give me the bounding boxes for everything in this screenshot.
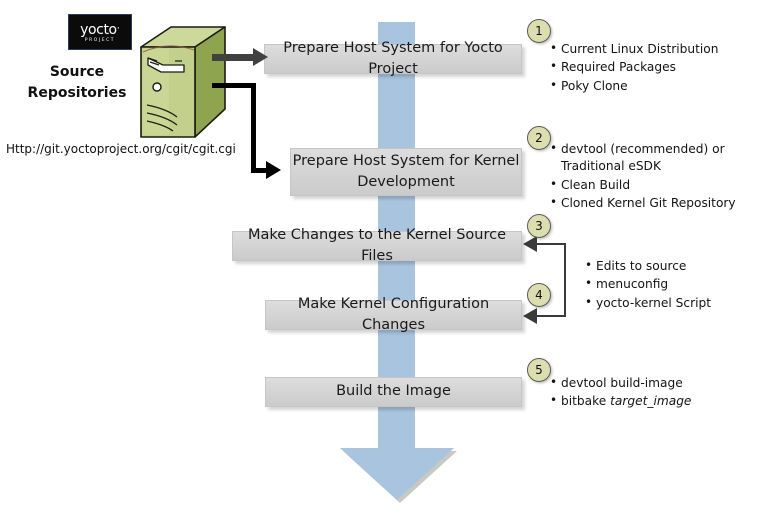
step-5-notes: devtool build-image bitbake target_image: [548, 375, 691, 412]
source-label-line2: Repositories: [14, 83, 140, 104]
step-1-note-2: Required Packages: [561, 59, 718, 76]
loop-note-3: yocto-kernel Script: [596, 295, 711, 312]
step-3-label: Make Changes to the Kernel Source Files: [233, 225, 521, 267]
step-3-box[interactable]: Make Changes to the Kernel Source Files: [232, 231, 522, 261]
step-5-note-2: bitbake target_image: [561, 393, 691, 410]
connector-server-to-step1: [212, 54, 256, 61]
step-2-box[interactable]: Prepare Host System for Kernel Developme…: [290, 148, 522, 196]
source-label-line1: Source: [14, 62, 140, 83]
step-2-number: 2: [535, 131, 543, 145]
step-1-note-3: Poky Clone: [561, 78, 718, 95]
step-2-note-2: Clean Build: [561, 177, 736, 194]
step-1-notes: Current Linux Distribution Required Pack…: [548, 41, 718, 96]
step-2-notes: devtool (recommended) or Traditional eSD…: [548, 141, 736, 213]
yocto-logo-subtitle: PROJECT: [85, 39, 115, 43]
step-5-box[interactable]: Build the Image: [265, 377, 522, 407]
source-repositories-url: Http://git.yoctoproject.org/cgit/cgit.cg…: [6, 142, 236, 156]
step-1-badge: 1: [527, 19, 551, 43]
step-5-note-2-command: bitbake: [561, 394, 610, 408]
feedback-loop-notes: Edits to source menuconfig yocto-kernel …: [583, 258, 711, 313]
step-2-badge: 2: [527, 126, 551, 150]
step-4-badge: 4: [527, 283, 551, 307]
step-3-number: 3: [535, 219, 543, 233]
flow-arrow-head: [340, 448, 454, 500]
connector-server-to-step2-arrowhead: [266, 161, 281, 179]
step-5-badge: 5: [527, 358, 551, 382]
yocto-project-logo: yocto· PROJECT: [68, 14, 132, 50]
step-2-note-1: devtool (recommended) or Traditional eSD…: [561, 141, 729, 176]
yocto-logo-dot: ·: [117, 23, 120, 34]
yocto-logo-word: yocto·: [80, 21, 120, 37]
step-5-number: 5: [535, 363, 543, 377]
feedback-loop-vertical: [564, 243, 566, 317]
step-2-note-3: Cloned Kernel Git Repository: [561, 195, 736, 212]
step-5-note-1: devtool build-image: [561, 375, 691, 392]
source-repositories-label: Source Repositories: [14, 62, 140, 104]
step-4-box[interactable]: Make Kernel Configuration Changes: [265, 300, 522, 330]
connector-server-to-step2-vertical: [251, 83, 256, 173]
feedback-loop-arrow-to-step3: [523, 236, 537, 252]
feedback-loop-arrow-to-step4: [523, 308, 537, 324]
loop-note-1: Edits to source: [596, 258, 711, 275]
step-5-label: Build the Image: [336, 381, 451, 402]
step-3-badge: 3: [527, 214, 551, 238]
connector-server-to-step2-horizontal-top: [212, 83, 256, 88]
diagram-canvas: yocto· PROJECT Source Repositories Http:…: [0, 0, 769, 517]
step-1-box[interactable]: Prepare Host System for Yocto Project: [264, 44, 522, 74]
step-1-label: Prepare Host System for Yocto Project: [265, 38, 521, 80]
loop-note-2: menuconfig: [596, 276, 711, 293]
step-2-label: Prepare Host System for Kernel Developme…: [291, 151, 521, 193]
feedback-loop-bottom-horizontal: [537, 315, 566, 317]
step-1-number: 1: [535, 24, 543, 38]
connector-server-to-step1-arrowhead: [253, 48, 268, 66]
step-5-note-2-argument: target_image: [610, 394, 691, 408]
feedback-loop-top-horizontal: [537, 243, 566, 245]
step-4-label: Make Kernel Configuration Changes: [266, 294, 521, 336]
step-1-note-1: Current Linux Distribution: [561, 41, 718, 58]
step-4-number: 4: [535, 288, 543, 302]
